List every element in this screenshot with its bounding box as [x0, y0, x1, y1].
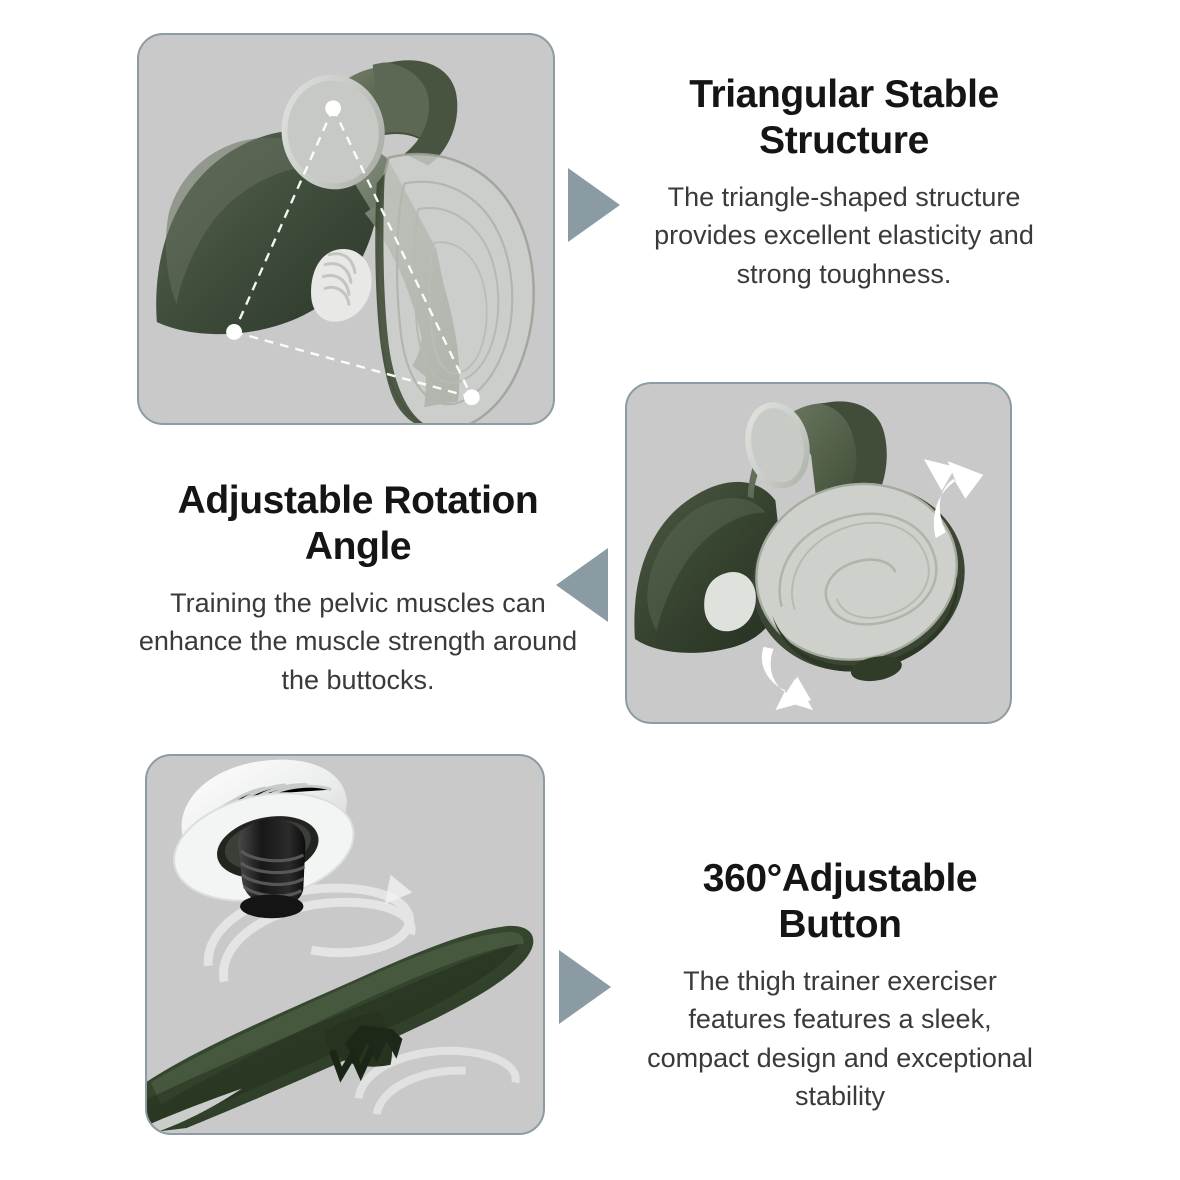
feature-heading-rotation: Adjustable Rotation Angle	[128, 478, 588, 570]
product-feature-infographic: Triangular Stable Structure The triangle…	[0, 0, 1180, 1180]
threaded-bolt	[238, 819, 305, 918]
feature-heading-triangular: Triangular Stable Structure	[626, 72, 1062, 164]
feature-image-panel-360-adjustable-button	[145, 754, 545, 1135]
feature-body-triangular: The triangle-shaped structure provides e…	[626, 178, 1062, 293]
motion-swirl-upper	[208, 888, 411, 982]
feature-arrow-triangular	[568, 168, 620, 242]
feature-text-triangular-stable-structure: Triangular Stable Structure The triangle…	[626, 72, 1062, 293]
feature-arrow-button	[559, 950, 611, 1024]
feature-heading-button: 360°Adjustable Button	[640, 856, 1040, 948]
feature-body-rotation: Training the pelvic muscles can enhance …	[128, 584, 588, 699]
feature-image-panel-triangular-stable-structure	[137, 33, 555, 425]
product-illustration-triangular	[139, 35, 553, 423]
feature-body-button: The thigh trainer exerciser features fea…	[640, 962, 1040, 1115]
product-illustration-button	[147, 756, 543, 1133]
feature-text-adjustable-rotation-angle: Adjustable Rotation Angle Training the p…	[128, 478, 588, 699]
feature-image-panel-adjustable-rotation-angle	[625, 382, 1012, 724]
feature-text-360-adjustable-button: 360°Adjustable Button The thigh trainer …	[640, 856, 1040, 1115]
product-illustration-rotation	[627, 384, 1010, 722]
